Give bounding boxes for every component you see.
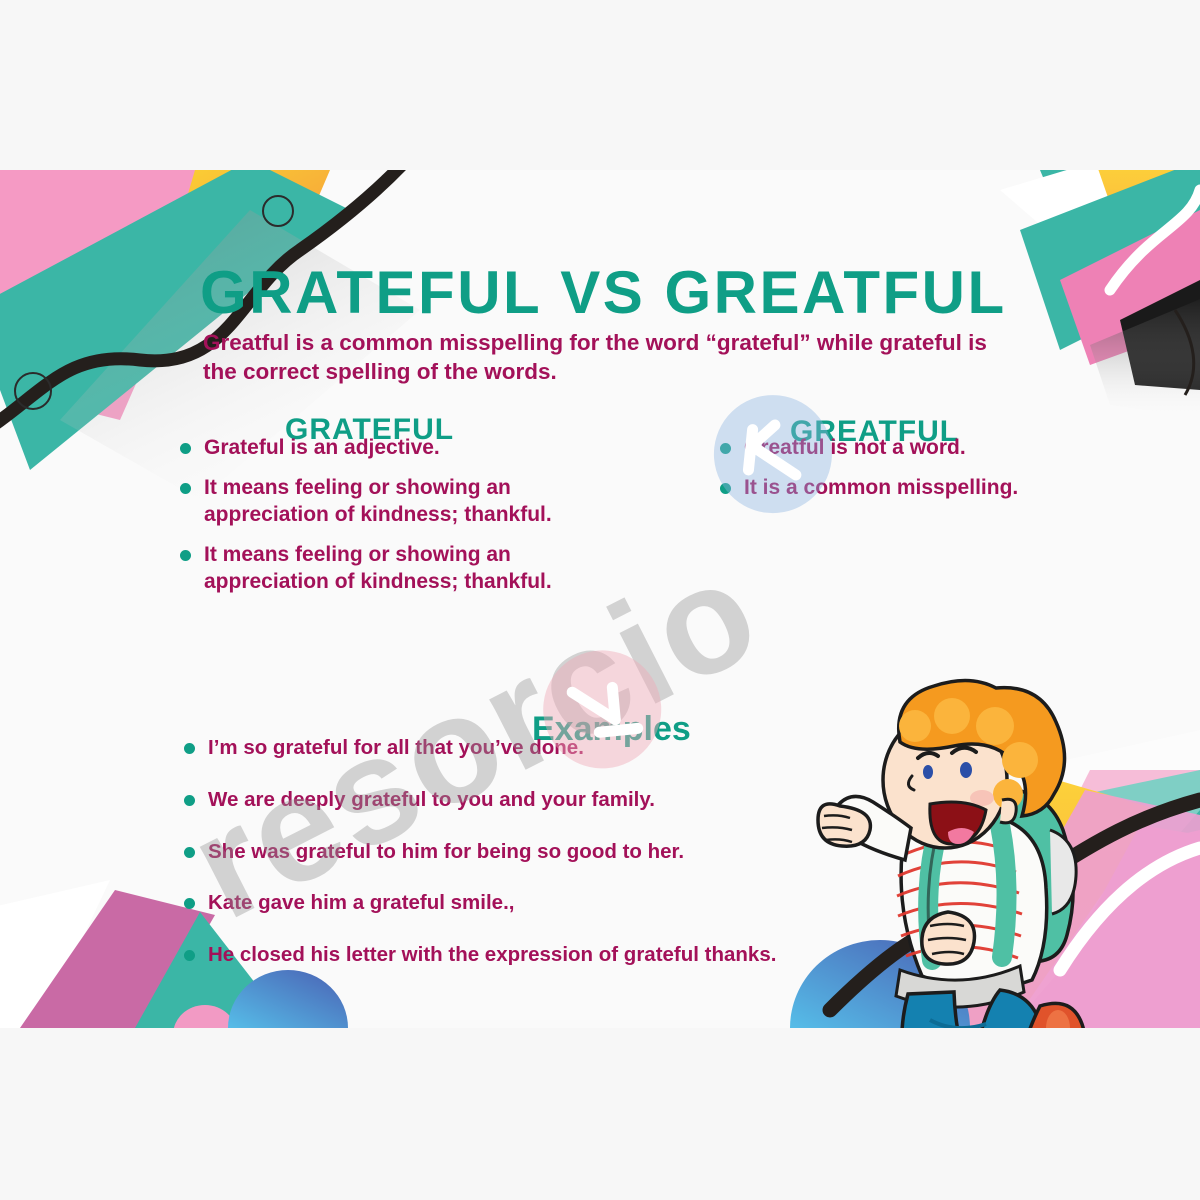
page-title: GRATEFUL VS GREATFUL (200, 258, 1007, 327)
list-item: He closed his letter with the expression… (180, 942, 860, 968)
list-item: Greatful is not a word. (716, 435, 1116, 461)
examples-bullet-list: I’m so grateful for all that you’ve done… (180, 735, 860, 994)
grateful-bullet-list: Grateful is an adjective. It means feeli… (176, 435, 576, 609)
list-item: I’m so grateful for all that you’ve done… (180, 735, 860, 761)
subtitle-text: Greatful is a common misspelling for the… (203, 328, 1023, 388)
infographic-content: GRATEFUL VS GREATFUL Greatful is a commo… (0, 170, 1200, 1028)
list-item: We are deeply grateful to you and your f… (180, 787, 860, 813)
infographic-card: GRATEFUL VS GREATFUL Greatful is a commo… (0, 170, 1200, 1028)
list-item: It means feeling or showing an appreciat… (176, 475, 576, 528)
list-item: It means feeling or showing an appreciat… (176, 542, 576, 595)
greatful-bullet-list: Greatful is not a word. It is a common m… (716, 435, 1116, 516)
list-item: Kate gave him a grateful smile., (180, 890, 860, 916)
list-item: Grateful is an adjective. (176, 435, 576, 461)
list-item: She was grateful to him for being so goo… (180, 839, 860, 865)
list-item: It is a common misspelling. (716, 475, 1116, 501)
